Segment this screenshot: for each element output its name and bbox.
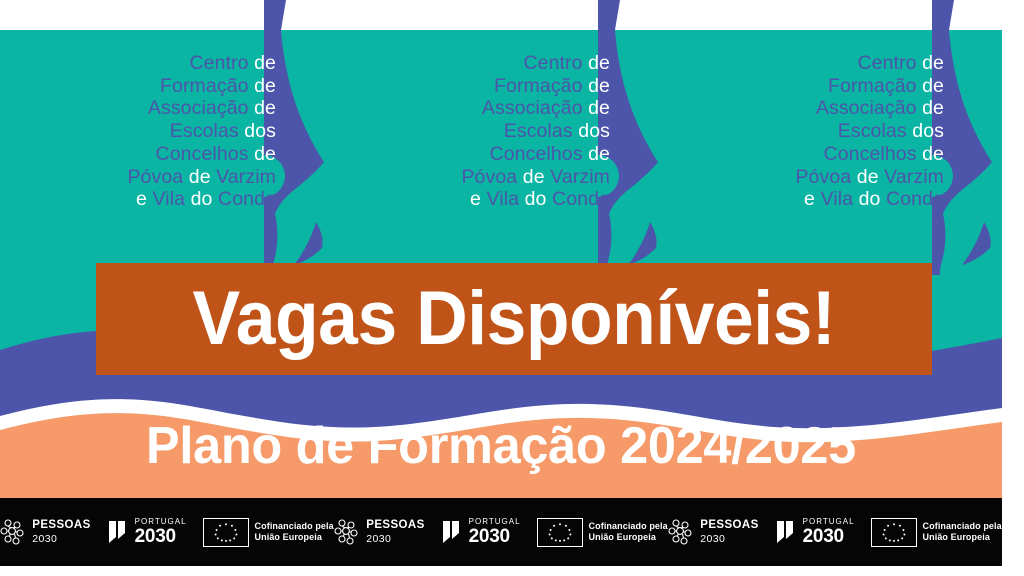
logo-line: Escolas dos: [127, 120, 276, 143]
funding-group: PESSOAS 2030 PORTUGAL 2030: [334, 517, 668, 547]
logo-text: Centro de Formação de Associação de Esco…: [127, 52, 276, 211]
logo-word: e: [136, 188, 152, 210]
logo-word: Escolas: [504, 120, 579, 142]
logo-word: de: [189, 166, 216, 188]
logo-word: de: [254, 75, 276, 97]
logo-line: e Vila do Conde: [795, 188, 944, 211]
portugal-2030-logo: PORTUGAL 2030: [107, 518, 187, 546]
logo-word: de: [588, 75, 610, 97]
eu-flag-icon: [203, 518, 249, 547]
eu-line-1: Cofinanciado pela: [923, 521, 1002, 532]
logo-word: de: [523, 166, 550, 188]
logo-line: Escolas dos: [795, 120, 944, 143]
logo-word: Associação: [148, 97, 254, 119]
logo-word: Concelhos: [490, 143, 589, 165]
logo-word: dos: [912, 120, 944, 142]
portugal-year: 2030: [803, 527, 855, 546]
pessoas-2030-icon: [334, 517, 360, 547]
logo-word: do: [859, 188, 886, 210]
eu-cofinance-text: Cofinanciado pela União Europeia: [589, 521, 668, 544]
logo-word: do: [525, 188, 552, 210]
logo-line: e Vila do Conde: [461, 188, 610, 211]
logo-line: Centro de: [461, 52, 610, 75]
logo-word: Escolas: [170, 120, 245, 142]
logo-word: Conde: [552, 188, 610, 210]
logo-line: e Vila do Conde: [127, 188, 276, 211]
logo-word: Centro: [189, 52, 254, 74]
eu-line-2: União Europeia: [589, 532, 668, 543]
pessoas-2030-text: PESSOAS 2030: [700, 520, 758, 544]
logo-line: Associação de: [795, 97, 944, 120]
logo-line: Formação de: [127, 75, 276, 98]
logo-line: Concelhos de: [795, 143, 944, 166]
portugal-label: PORTUGAL: [135, 518, 187, 526]
pessoas-2030-icon: [0, 517, 26, 547]
pessoas-label: PESSOAS: [700, 520, 758, 532]
logo-word: Varzim: [550, 166, 610, 188]
logo-word: Vila: [487, 188, 525, 210]
logo-word: Vila: [153, 188, 191, 210]
headline-text: Vagas Disponíveis!: [193, 281, 836, 357]
funding-group: PESSOAS 2030 PORTUGAL 2030: [0, 517, 334, 547]
portugal-year: 2030: [469, 527, 521, 546]
logo-word: Concelhos: [156, 143, 255, 165]
logo-word: de: [588, 52, 610, 74]
logo-line: Póvoa de Varzim: [461, 166, 610, 189]
logo-word: de: [922, 97, 944, 119]
portugal-2030-logo: PORTUGAL 2030: [441, 518, 521, 546]
eu-cofinance-logo: Cofinanciado pela União Europeia: [203, 518, 334, 547]
logo-word: Formação: [828, 75, 922, 97]
logo-row: Centro de Formação de Associação de Esco…: [0, 30, 1002, 270]
pessoas-2030-logo: PESSOAS 2030: [0, 517, 90, 547]
pessoas-2030-logo: PESSOAS 2030: [334, 517, 424, 547]
pessoas-label: PESSOAS: [366, 520, 424, 532]
logo-word: dos: [244, 120, 276, 142]
logo-word: Póvoa: [461, 166, 522, 188]
portugal-2030-icon: [441, 519, 463, 545]
logo-word: Varzim: [216, 166, 276, 188]
eu-cofinance-logo: Cofinanciado pela União Europeia: [871, 518, 1002, 547]
logo-word: do: [191, 188, 218, 210]
logo-word: Póvoa: [127, 166, 188, 188]
logo-word: Póvoa: [795, 166, 856, 188]
logo-line: Póvoa de Varzim: [795, 166, 944, 189]
logo-word: de: [922, 52, 944, 74]
pessoas-label: PESSOAS: [32, 520, 90, 532]
logo-line: Escolas dos: [461, 120, 610, 143]
logo-word: Conde: [886, 188, 944, 210]
pessoas-year: 2030: [366, 534, 424, 545]
logo-word: Varzim: [884, 166, 944, 188]
logo-word: Associação: [816, 97, 922, 119]
logo-word: de: [254, 143, 276, 165]
logo-word: e: [804, 188, 820, 210]
logo-word: Centro: [523, 52, 588, 74]
portugal-label: PORTUGAL: [803, 518, 855, 526]
pessoas-2030-logo: PESSOAS 2030: [668, 517, 758, 547]
headline-banner: Vagas Disponíveis!: [96, 263, 932, 375]
logo-word: Concelhos: [824, 143, 923, 165]
logo-word: Conde: [218, 188, 276, 210]
portugal-2030-icon: [107, 519, 129, 545]
logo-unit: Centro de Formação de Associação de Esco…: [0, 30, 334, 270]
eu-line-1: Cofinanciado pela: [589, 521, 668, 532]
logo-text: Centro de Formação de Associação de Esco…: [795, 52, 944, 211]
pessoas-2030-text: PESSOAS 2030: [32, 520, 90, 544]
logo-word: Formação: [494, 75, 588, 97]
eu-flag-icon: [871, 518, 917, 547]
logo-word: de: [588, 97, 610, 119]
eu-cofinance-text: Cofinanciado pela União Europeia: [255, 521, 334, 544]
logo-unit: Centro de Formação de Associação de Esco…: [668, 30, 1002, 270]
funding-footer: PESSOAS 2030 PORTUGAL 2030: [0, 498, 1002, 566]
eu-flag-icon: [537, 518, 583, 547]
logo-word: Associação: [482, 97, 588, 119]
logo-word: de: [922, 143, 944, 165]
pessoas-2030-icon: [668, 517, 694, 547]
logo-word: Formação: [160, 75, 254, 97]
logo-text: Centro de Formação de Associação de Esco…: [461, 52, 610, 211]
eu-cofinance-logo: Cofinanciado pela União Europeia: [537, 518, 668, 547]
pessoas-year: 2030: [700, 534, 758, 545]
logo-unit: Centro de Formação de Associação de Esco…: [334, 30, 668, 270]
portugal-2030-icon: [775, 519, 797, 545]
logo-word: dos: [578, 120, 610, 142]
eu-cofinance-text: Cofinanciado pela União Europeia: [923, 521, 1002, 544]
eu-line-1: Cofinanciado pela: [255, 521, 334, 532]
poster-root: Centro de Formação de Associação de Esco…: [0, 0, 1024, 576]
eu-line-2: União Europeia: [923, 532, 1002, 543]
logo-line: Associação de: [461, 97, 610, 120]
pessoas-2030-text: PESSOAS 2030: [366, 520, 424, 544]
logo-line: Póvoa de Varzim: [127, 166, 276, 189]
portugal-2030-text: PORTUGAL 2030: [469, 518, 521, 546]
portugal-2030-logo: PORTUGAL 2030: [775, 518, 855, 546]
logo-line: Formação de: [795, 75, 944, 98]
logo-line: Centro de: [127, 52, 276, 75]
logo-line: Associação de: [127, 97, 276, 120]
eu-line-2: União Europeia: [255, 532, 334, 543]
portugal-2030-text: PORTUGAL 2030: [135, 518, 187, 546]
logo-word: de: [857, 166, 884, 188]
logo-word: Escolas: [838, 120, 913, 142]
pessoas-year: 2030: [32, 534, 90, 545]
logo-word: Centro: [857, 52, 922, 74]
portugal-label: PORTUGAL: [469, 518, 521, 526]
portugal-year: 2030: [135, 527, 187, 546]
logo-word: de: [588, 143, 610, 165]
logo-word: Vila: [821, 188, 859, 210]
logo-word: de: [254, 52, 276, 74]
logo-line: Centro de: [795, 52, 944, 75]
logo-word: e: [470, 188, 486, 210]
portugal-2030-text: PORTUGAL 2030: [803, 518, 855, 546]
logo-word: de: [254, 97, 276, 119]
logo-line: Concelhos de: [127, 143, 276, 166]
logo-line: Concelhos de: [461, 143, 610, 166]
logo-word: de: [922, 75, 944, 97]
logo-line: Formação de: [461, 75, 610, 98]
funding-group: PESSOAS 2030 PORTUGAL 2030: [668, 517, 1002, 547]
subtitle-text: Plano de Formação 2024/2025: [15, 420, 987, 472]
